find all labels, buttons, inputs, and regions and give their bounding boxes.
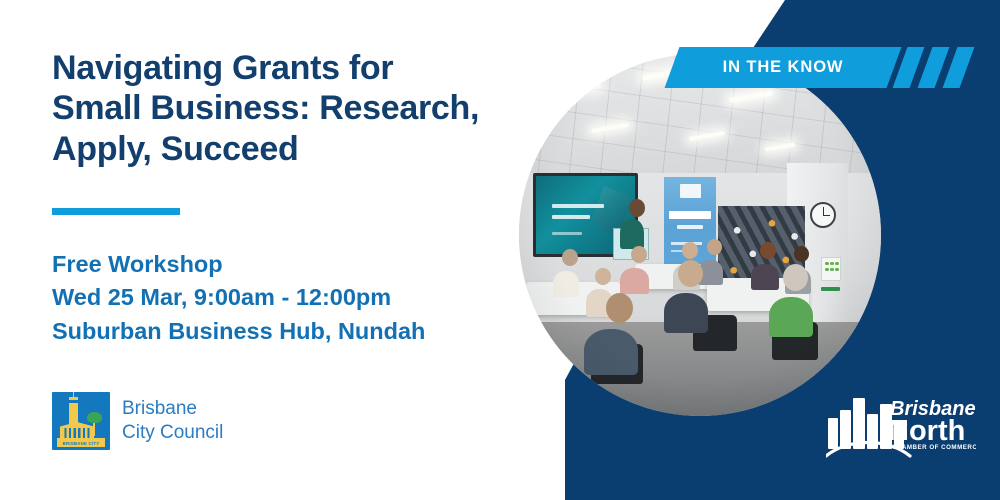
palm-tree-icon: [87, 412, 102, 423]
event-datetime: Wed 25 Mar, 9:00am - 12:00pm: [52, 281, 512, 314]
photo-vignette: [519, 54, 881, 416]
council-wordmark-line-1: Brisbane: [122, 397, 223, 421]
ribbon-label: IN THE KNOW: [672, 47, 894, 88]
headline-line-2: Small Business: Research,: [52, 88, 552, 128]
event-type: Free Workshop: [52, 248, 512, 281]
event-venue: Suburban Business Hub, Nundah: [52, 315, 512, 348]
council-wordmark: Brisbane City Council: [122, 397, 223, 446]
workshop-photo: [519, 54, 881, 416]
headline-line-1: Navigating Grants for: [52, 48, 552, 88]
council-wordmark-line-2: City Council: [122, 421, 223, 445]
event-banner: IN THE KNOW Navigating Grants for Small …: [0, 0, 1000, 500]
council-crest-caption: BRISBANE CITY: [57, 440, 105, 447]
in-the-know-ribbon: IN THE KNOW: [672, 47, 972, 88]
page-title: Navigating Grants for Small Business: Re…: [52, 48, 552, 169]
brisbane-city-council-logo: BRISBANE CITY Brisbane City Council: [52, 392, 223, 450]
accent-divider-bar: [52, 208, 180, 215]
chamber-logo-svg: Brisbane North CHAMBER OF COMMERCE: [826, 388, 976, 460]
event-details: Free Workshop Wed 25 Mar, 9:00am - 12:00…: [52, 248, 512, 348]
chamber-tagline: CHAMBER OF COMMERCE: [892, 444, 976, 451]
headline-line-3: Apply, Succeed: [52, 129, 552, 169]
chamber-wordmark-line-2: North: [888, 415, 965, 447]
ribbon-stripe: [943, 47, 975, 88]
council-crest-icon: BRISBANE CITY: [52, 392, 110, 450]
brisbane-north-chamber-logo: Brisbane North CHAMBER OF COMMERCE: [826, 388, 976, 460]
